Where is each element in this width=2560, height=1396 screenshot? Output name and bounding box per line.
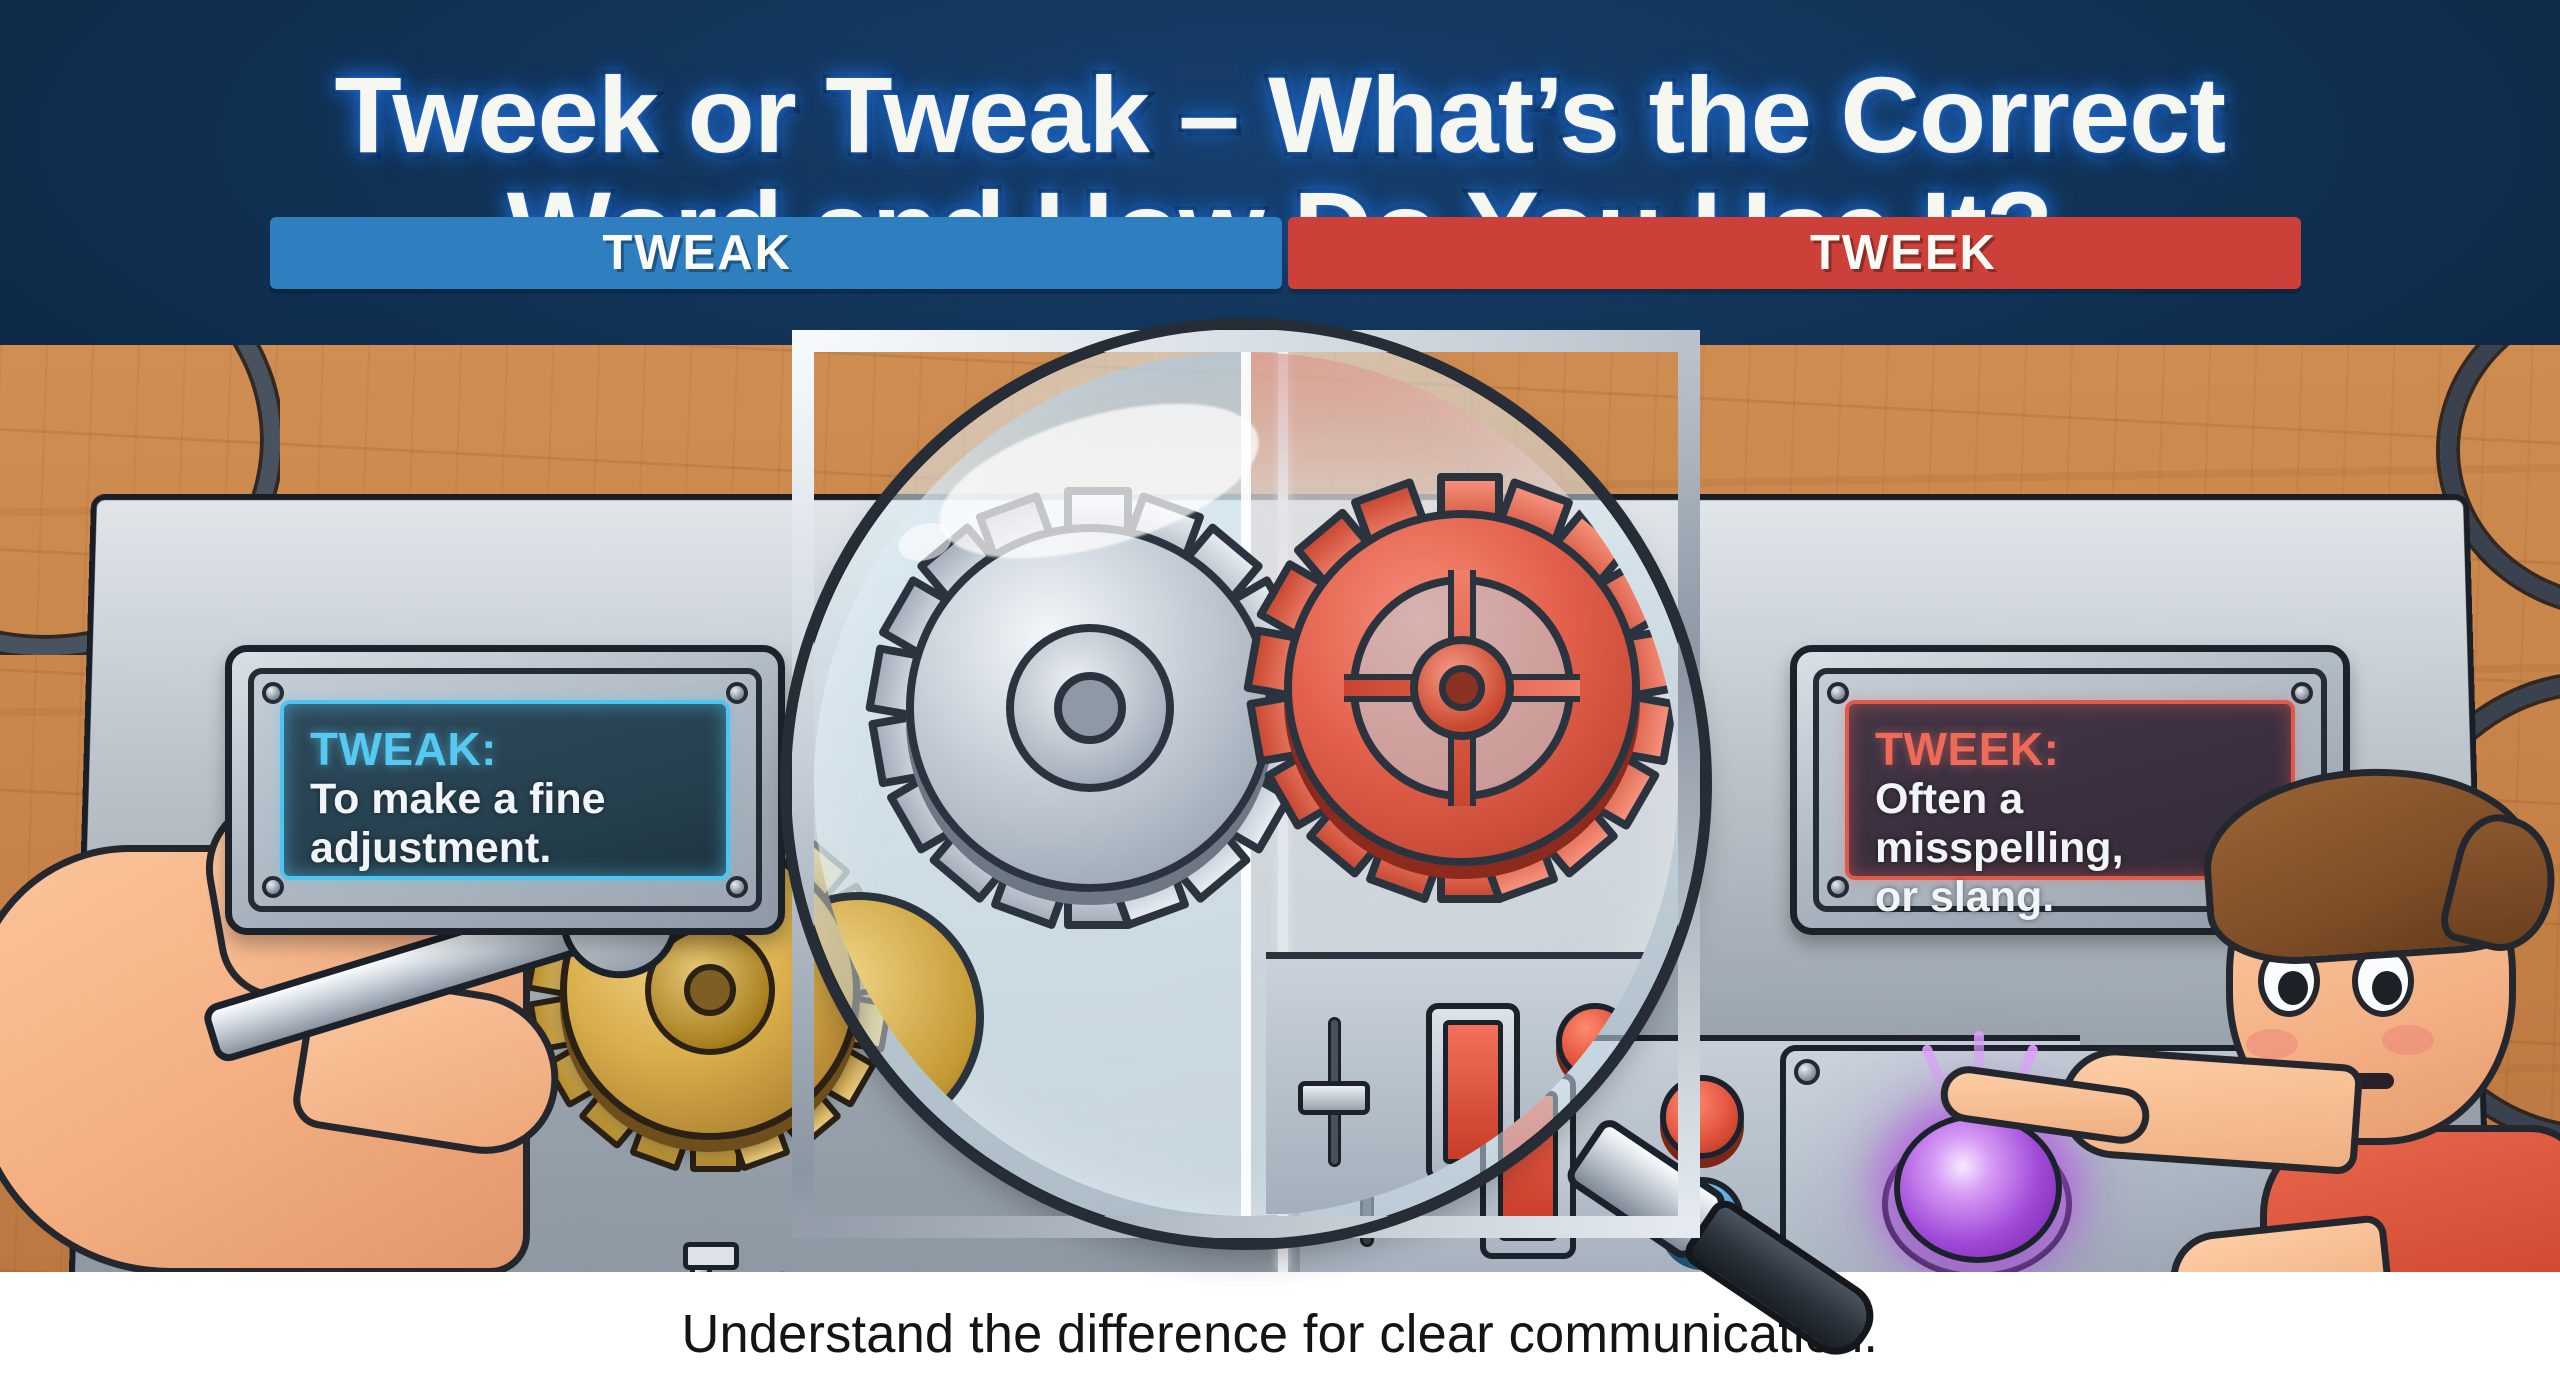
infographic-page: Tweek or Tweak – What’s the Correct Word… [0, 0, 2560, 1396]
tweak-definition-line-1: To make a fine [310, 776, 700, 823]
tweek-banner: TWEEK [1288, 217, 2301, 289]
title-bar: Tweek or Tweak – What’s the Correct Word… [0, 0, 2560, 345]
caption-band: Understand the difference for clear comm… [0, 1272, 2560, 1396]
page-title-line-1: Tweek or Tweak – What’s the Correct [335, 59, 2226, 171]
lens-button-blue-2 [1556, 1107, 1634, 1185]
tweak-banner-label: TWEAK [602, 225, 792, 281]
lens-toggle-switch [1426, 1003, 1520, 1181]
boy-cheek-right [2382, 1025, 2434, 1055]
silver-gear-icon [906, 524, 1274, 892]
lens-button-red-1 [1556, 1003, 1634, 1081]
magnifying-glass-icon[interactable] [792, 330, 1700, 1238]
tweak-display-screen: TWEAK: To make a fine adjustment. [280, 700, 730, 880]
glowing-purple-button[interactable] [1894, 1113, 2062, 1263]
caption-text: Understand the difference for clear comm… [682, 1303, 1879, 1365]
tweek-banner-label: TWEEK [1810, 225, 1997, 281]
loose-screw-icon [690, 1245, 712, 1272]
lens-control-panel [1266, 952, 1686, 1214]
worried-boy-character [2130, 755, 2560, 1272]
lens-slider-knob [1298, 1081, 1370, 1115]
boy-cheek-left [2246, 1029, 2298, 1059]
tweak-definition-line-2: adjustment. [310, 825, 700, 872]
tweak-term-label: TWEAK: [310, 726, 700, 774]
tweak-banner: TWEAK [270, 217, 1282, 289]
tweak-display-bezel: TWEAK: To make a fine adjustment. [225, 645, 785, 935]
red-gear-icon [1284, 510, 1640, 866]
boy-hair [2198, 758, 2540, 971]
